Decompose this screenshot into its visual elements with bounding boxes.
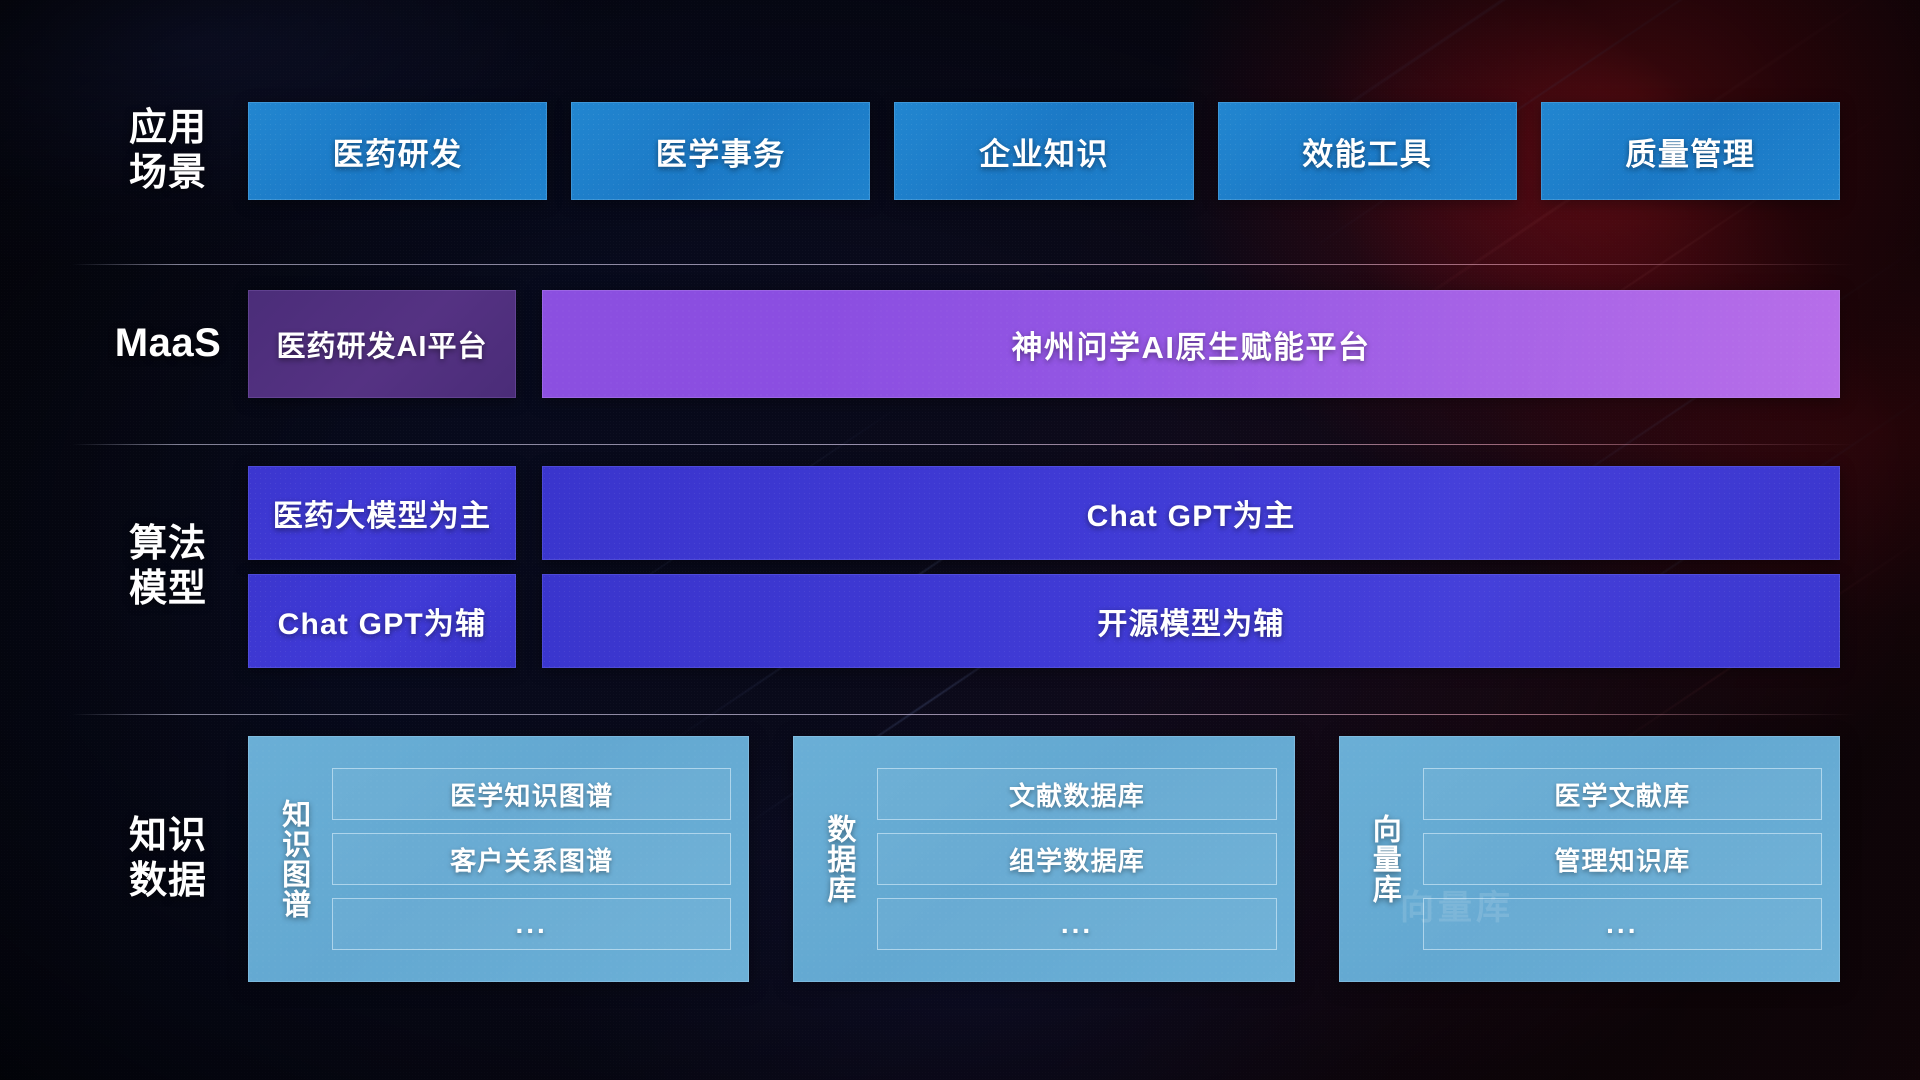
maas-platform-label: 医药研发AI平台 [276, 323, 487, 365]
knowledge-item[interactable]: 管理知识库 [1423, 833, 1822, 885]
knowledge-item-more[interactable]: ... [877, 898, 1276, 950]
application-box-label: 医药研发 [333, 129, 463, 174]
knowledge-card-items: 医学文献库 管理知识库 ... [1415, 750, 1822, 968]
application-box[interactable]: 质量管理 [1541, 102, 1840, 200]
application-box-label: 质量管理 [1625, 129, 1755, 174]
knowledge-item-more[interactable]: ... [332, 898, 731, 950]
row-label-applications: 应用 场景 [88, 106, 248, 196]
divider-maas-algorithm [72, 444, 1856, 445]
application-box-label: 企业知识 [979, 129, 1109, 174]
knowledge-item-label: 管理知识库 [1554, 841, 1690, 878]
knowledge-item[interactable]: 组学数据库 [877, 833, 1276, 885]
knowledge-card-title: 知识图谱 [262, 750, 324, 968]
application-box-label: 医学事务 [656, 129, 786, 174]
divider-algorithm-knowledge [72, 714, 1856, 715]
knowledge-item-label: ... [1606, 908, 1638, 940]
knowledge-card-title: 向量库 [1353, 750, 1415, 968]
knowledge-item[interactable]: 文献数据库 [877, 768, 1276, 820]
algorithm-secondary-label: Chat GPT为辅 [278, 599, 487, 643]
application-box-label: 效能工具 [1302, 129, 1432, 174]
row-knowledge: 知识 数据 知识图谱 医学知识图谱 客户关系图谱 ... [88, 736, 1840, 982]
algorithm-box-grid: 医药大模型为主 Chat GPT为主 Chat GPT为辅 开源模型为辅 [248, 466, 1840, 668]
knowledge-card-items: 文献数据库 组学数据库 ... [869, 750, 1276, 968]
application-box[interactable]: 医学事务 [571, 102, 870, 200]
knowledge-card[interactable]: 知识图谱 医学知识图谱 客户关系图谱 ... [248, 736, 749, 982]
knowledge-item-more[interactable]: ... [1423, 898, 1822, 950]
algorithm-primary-wide-box[interactable]: Chat GPT为主 [542, 466, 1840, 560]
algorithm-secondary-box[interactable]: Chat GPT为辅 [248, 574, 516, 668]
knowledge-card[interactable]: 数据库 文献数据库 组学数据库 ... [793, 736, 1294, 982]
maas-platform-box[interactable]: 医药研发AI平台 [248, 290, 516, 398]
application-box[interactable]: 效能工具 [1218, 102, 1517, 200]
divider-applications-maas [72, 264, 1856, 265]
knowledge-item[interactable]: 医学知识图谱 [332, 768, 731, 820]
algorithm-primary-wide-label: Chat GPT为主 [1087, 491, 1296, 535]
knowledge-item-label: 组学数据库 [1009, 841, 1145, 878]
row-label-knowledge: 知识 数据 [88, 814, 248, 904]
knowledge-card-title: 数据库 [807, 750, 869, 968]
maas-banner-box[interactable]: 神州问学AI原生赋能平台 [542, 290, 1840, 398]
knowledge-card[interactable]: 向量库 医学文献库 管理知识库 ... [1339, 736, 1840, 982]
knowledge-item-label: 医学文献库 [1554, 776, 1690, 813]
knowledge-item-label: 医学知识图谱 [450, 776, 613, 813]
knowledge-item-label: 文献数据库 [1009, 776, 1145, 813]
algorithm-row: 医药大模型为主 Chat GPT为主 [248, 466, 1840, 560]
knowledge-item[interactable]: 客户关系图谱 [332, 833, 731, 885]
algorithm-primary-label: 医药大模型为主 [273, 491, 491, 535]
algorithm-row: Chat GPT为辅 开源模型为辅 [248, 574, 1840, 668]
algorithm-secondary-wide-box[interactable]: 开源模型为辅 [542, 574, 1840, 668]
algorithm-secondary-wide-label: 开源模型为辅 [1097, 599, 1284, 643]
knowledge-item-label: 客户关系图谱 [450, 841, 613, 878]
diagram-content: 应用 场景 医药研发 医学事务 企业知识 效能工具 质量管理 [0, 0, 1920, 1080]
knowledge-item-label: ... [515, 908, 547, 940]
row-label-maas: MaaS [88, 320, 248, 367]
maas-banner-label: 神州问学AI原生赋能平台 [1012, 322, 1371, 367]
row-algorithm: 算法 模型 医药大模型为主 Chat GPT为主 Chat GPT为辅 开源模型… [88, 466, 1840, 668]
maas-box-list: 医药研发AI平台 神州问学AI原生赋能平台 [248, 290, 1840, 398]
application-box-list: 医药研发 医学事务 企业知识 效能工具 质量管理 [248, 102, 1840, 200]
application-box[interactable]: 医药研发 [248, 102, 547, 200]
slide-canvas: 应用 场景 医药研发 医学事务 企业知识 效能工具 质量管理 [0, 0, 1920, 1080]
algorithm-primary-box[interactable]: 医药大模型为主 [248, 466, 516, 560]
row-applications: 应用 场景 医药研发 医学事务 企业知识 效能工具 质量管理 [88, 102, 1840, 200]
knowledge-item[interactable]: 医学文献库 [1423, 768, 1822, 820]
row-label-algorithm: 算法 模型 [88, 522, 248, 612]
knowledge-card-list: 知识图谱 医学知识图谱 客户关系图谱 ... 数据库 [248, 736, 1840, 982]
knowledge-item-label: ... [1061, 908, 1093, 940]
application-box[interactable]: 企业知识 [894, 102, 1193, 200]
knowledge-card-items: 医学知识图谱 客户关系图谱 ... [324, 750, 731, 968]
row-maas: MaaS 医药研发AI平台 神州问学AI原生赋能平台 [88, 290, 1840, 398]
